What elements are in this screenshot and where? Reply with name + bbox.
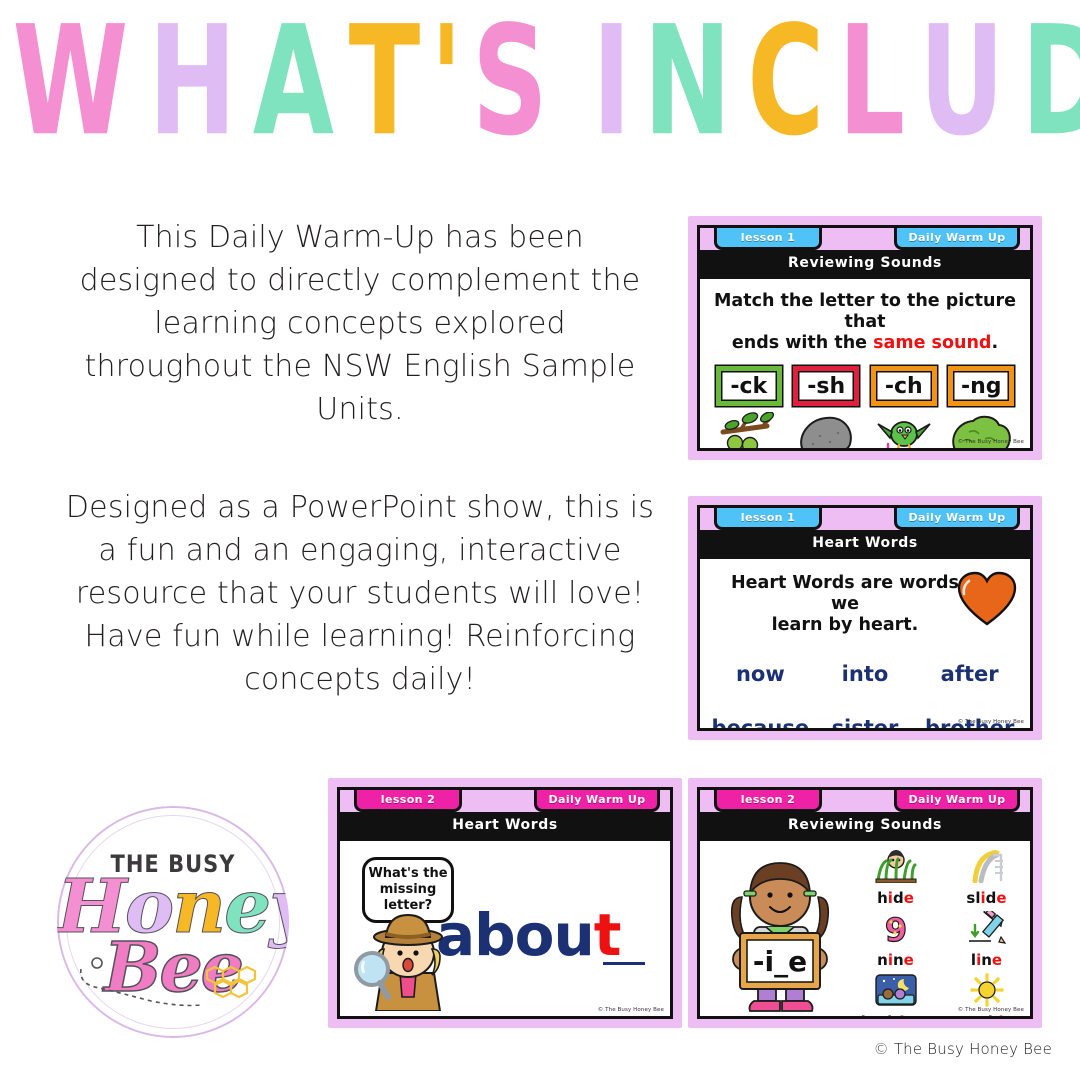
brand-logo: THE BUSY Honey Bee	[57, 806, 289, 1038]
lesson-tab[interactable]: lesson 2	[354, 790, 462, 812]
sound-card[interactable]: -ck	[713, 366, 785, 451]
lead-line-2: learn by heart.	[772, 615, 919, 635]
svg-text:9: 9	[884, 911, 906, 945]
title-letter: '	[430, 1, 460, 164]
word-post: d	[893, 889, 904, 907]
honeycomb-icon	[205, 963, 263, 1010]
slide-frame: lesson 2 Daily Warm Up Heart Words What'…	[337, 787, 673, 1019]
prompt-line-2-post: .	[991, 333, 998, 353]
rock-icon	[790, 412, 862, 451]
ie-word-label: slide	[941, 889, 1032, 907]
ie-word-card[interactable]: bedtime	[850, 971, 941, 1019]
slide-tabs: lesson 1 Daily Warm Up	[700, 228, 1030, 250]
title-letter: W	[13, 1, 127, 164]
slide-icon	[965, 849, 1009, 883]
slide-prompt: Match the letter to the picture that end…	[714, 291, 1016, 354]
sound-label-frame: -ck	[716, 366, 782, 406]
slide-tabs: lesson 2 Daily Warm Up	[700, 790, 1030, 812]
warmup-tab[interactable]: Daily Warm Up	[894, 790, 1020, 812]
slide-tabs: lesson 1 Daily Warm Up	[700, 508, 1030, 530]
hiding-in-grass-icon	[874, 849, 918, 883]
bush-icon	[945, 412, 1017, 451]
lesson-tab[interactable]: lesson 2	[714, 790, 822, 812]
word-end: e	[920, 1013, 930, 1019]
prompt-highlight: same sound	[873, 333, 991, 353]
ie-word-card[interactable]: line	[941, 909, 1032, 969]
heart-icon	[956, 571, 1018, 632]
page-title: WHAT'SINCLUDED	[0, 26, 1080, 164]
branch-with-apples-icon	[713, 412, 785, 451]
word-pre: n	[877, 951, 888, 969]
title-letter: U	[919, 1, 1003, 164]
ie-word-label: hide	[850, 889, 941, 907]
word-end: e	[904, 889, 914, 907]
slide-thumbnail-reviewing-sounds-1[interactable]: lesson 1 Daily Warm Up Reviewing Sounds …	[688, 216, 1042, 460]
slide-content: What's the missing letter? about	[340, 838, 670, 1016]
title-letter: A	[253, 1, 333, 164]
slide-thumbnail-heart-words-1[interactable]: lesson 1 Daily Warm Up Heart Words Heart…	[688, 496, 1042, 740]
title-letter: H	[149, 1, 235, 164]
ie-word-card[interactable]: slide	[941, 847, 1032, 907]
answer-blank-line	[603, 962, 645, 965]
slide-credit: © The Busy Honey Bee	[958, 1007, 1024, 1013]
slide-content: Heart Words are words we learn by heart.…	[700, 556, 1030, 728]
title-letter: I	[592, 1, 629, 164]
slide-credit: © The Busy Honey Bee	[958, 439, 1024, 445]
intro-paragraph-2: Designed as a PowerPoint show, this is a…	[62, 486, 658, 701]
warmup-tab[interactable]: Daily Warm Up	[894, 508, 1020, 530]
title-letter: L	[838, 1, 903, 164]
sunshine-icon	[965, 973, 1009, 1007]
bedtime-icon	[874, 973, 918, 1007]
slide-content: Match the letter to the picture that end…	[700, 276, 1030, 448]
ie-word-grid: hide slide	[850, 847, 1032, 1019]
heart-word[interactable]: sister	[813, 716, 918, 731]
warmup-tab[interactable]: Daily Warm Up	[534, 790, 660, 812]
bird-icon	[868, 412, 940, 451]
ie-word-label: bedtime	[850, 1013, 941, 1019]
word-end: e	[992, 951, 1002, 969]
word-post: n	[981, 951, 992, 969]
title-letter: T	[349, 1, 419, 164]
slide-frame: lesson 1 Daily Warm Up Heart Words Heart…	[697, 505, 1033, 731]
slide-title: Reviewing Sounds	[700, 812, 1030, 838]
slide-frame: lesson 1 Daily Warm Up Reviewing Sounds …	[697, 225, 1033, 451]
prompt-line-1: Match the letter to the picture that	[714, 291, 1016, 332]
slide-title: Heart Words	[700, 530, 1030, 556]
sound-label-frame: -sh	[793, 366, 859, 406]
ie-word-label: nine	[850, 951, 941, 969]
pencil-line-icon	[965, 911, 1009, 945]
sound-card[interactable]: -sh	[790, 366, 862, 451]
heart-words-lead: Heart Words are words we learn by heart.	[714, 573, 976, 636]
sound-card[interactable]: -ch	[868, 366, 940, 451]
slide-frame: lesson 2 Daily Warm Up Reviewing Sounds	[697, 787, 1033, 1019]
slide-content: -i_e hide	[700, 838, 1030, 1016]
ie-word-label: line	[941, 951, 1032, 969]
slide-tabs: lesson 2 Daily Warm Up	[340, 790, 670, 812]
word-missing-letter: t	[594, 901, 621, 969]
slide-thumbnail-reviewing-sounds-2[interactable]: lesson 2 Daily Warm Up Reviewing Sounds	[688, 778, 1042, 1028]
word-pre: bedt	[861, 1013, 900, 1019]
girl-holding-frame-icon: -i_e	[714, 849, 846, 1019]
word-post: m	[905, 1013, 921, 1019]
number-nine-icon: 9	[874, 911, 918, 945]
sound-label-frame: -ng	[948, 366, 1014, 406]
word-post: n	[1004, 1013, 1015, 1019]
title-letter: S	[472, 1, 546, 164]
ie-word-label: sunshine	[941, 1013, 1032, 1019]
heart-word[interactable]: after	[917, 662, 1022, 686]
slide-thumbnail-heart-words-2[interactable]: lesson 2 Daily Warm Up Heart Words What'…	[328, 778, 682, 1028]
poster-canvas: WHAT'SINCLUDED This Daily Warm-Up has be…	[0, 0, 1080, 1080]
footer-credit: © The Busy Honey Bee	[874, 1040, 1052, 1058]
word-end: e	[1014, 1013, 1024, 1019]
lesson-tab[interactable]: lesson 1	[714, 508, 822, 530]
word-end: e	[996, 889, 1006, 907]
word-post: n	[893, 951, 904, 969]
heart-word[interactable]: into	[813, 662, 918, 686]
title-letter: C	[747, 1, 822, 164]
word-pre: sl	[966, 889, 980, 907]
title-letter: N	[643, 1, 729, 164]
svg-text:-i_e: -i_e	[753, 945, 807, 978]
detective-kid-icon	[354, 907, 462, 1016]
word-pre: h	[877, 889, 888, 907]
word-post: d	[986, 889, 997, 907]
sound-label-frame: -ch	[871, 366, 937, 406]
slide-credit: © The Busy Honey Bee	[958, 719, 1024, 725]
heart-word[interactable]: because	[708, 716, 813, 731]
word-end: e	[904, 951, 914, 969]
heart-word[interactable]: now	[708, 662, 813, 686]
intro-paragraph-1: This Daily Warm-Up has been designed to …	[70, 216, 650, 431]
word-pre: sunsh	[949, 1013, 999, 1019]
slide-title: Heart Words	[340, 812, 670, 838]
prompt-line-2-pre: ends with the	[732, 333, 873, 353]
target-word: about	[436, 901, 621, 969]
ie-word-card[interactable]: hide	[850, 847, 941, 907]
slide-title: Reviewing Sounds	[700, 250, 1030, 276]
lead-line-1: Heart Words are words we	[731, 573, 959, 614]
title-letter: D	[1022, 1, 1080, 164]
ie-word-card[interactable]: 9 nine	[850, 909, 941, 969]
slide-credit: © The Busy Honey Bee	[598, 1007, 664, 1013]
bee-flight-trail-icon	[75, 953, 205, 1016]
lesson-tab[interactable]: lesson 1	[714, 228, 822, 250]
warmup-tab[interactable]: Daily Warm Up	[894, 228, 1020, 250]
